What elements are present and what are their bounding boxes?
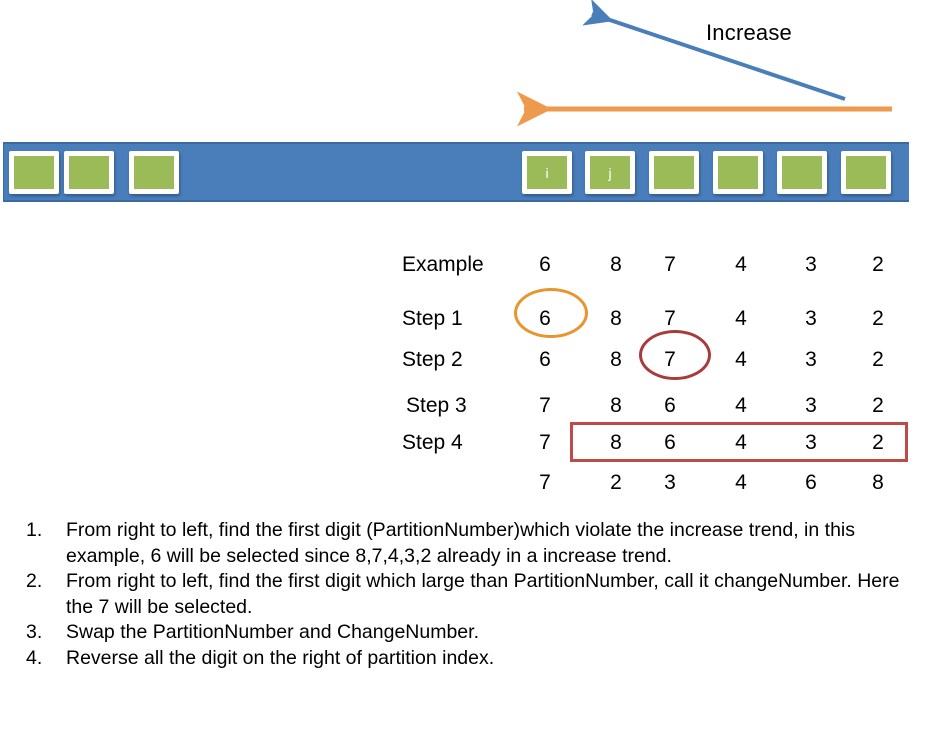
table-cell-3-2: 6 [658,394,682,418]
table-cell-2-3: 4 [729,348,753,372]
array-cell-1[interactable] [64,151,114,194]
table-row-label-1: Step 1 [402,307,463,331]
array-bar: i j [3,142,909,202]
array-cell-label-0 [14,156,54,189]
table-cell-4-0: 7 [533,431,557,455]
table-row-label-0: Example [402,253,484,277]
table-cell-0-1: 8 [604,253,628,277]
array-cell-i[interactable]: i [522,151,572,194]
array-cell-0[interactable] [9,151,59,194]
array-cell-label-7 [782,156,822,189]
table-cell-1-5: 2 [866,307,890,331]
table-cell-2-0: 6 [533,348,557,372]
array-cell-label-8 [846,156,886,189]
table-cell-1-4: 3 [799,307,823,331]
instruction-item-1: From right to left, find the first digit… [66,518,925,569]
table-cell-2-5: 2 [866,348,890,372]
table-cell-0-0: 6 [533,253,557,277]
table-cell-4-3: 4 [729,431,753,455]
table-cell-1-2: 7 [658,307,682,331]
table-cell-0-2: 7 [658,253,682,277]
array-cell-label-1 [69,156,109,189]
array-cell-6[interactable] [713,151,763,194]
table-cell-4-2: 6 [658,431,682,455]
array-cell-5[interactable] [649,151,699,194]
table-cell-3-1: 8 [604,394,628,418]
table-cell-5-1: 2 [604,471,628,495]
array-cell-8[interactable] [841,151,891,194]
instruction-item-3: Swap the PartitionNumber and ChangeNumbe… [66,620,925,646]
table-cell-0-3: 4 [729,253,753,277]
array-cell-2[interactable] [129,151,179,194]
table-cell-4-5: 2 [866,431,890,455]
array-cell-label-2 [134,156,174,189]
slide-canvas: Increase i j Example 6 8 7 4 3 2 Step 1 … [0,0,951,730]
table-cell-2-1: 8 [604,348,628,372]
table-cell-1-3: 4 [729,307,753,331]
table-cell-3-3: 4 [729,394,753,418]
table-cell-3-0: 7 [533,394,557,418]
table-row-label-4: Step 4 [402,431,463,455]
table-cell-2-4: 3 [799,348,823,372]
table-cell-0-4: 3 [799,253,823,277]
table-cell-5-4: 6 [799,471,823,495]
array-cell-j[interactable]: j [585,151,635,194]
table-cell-4-1: 8 [604,431,628,455]
array-cell-label-5 [654,156,694,189]
table-cell-3-5: 2 [866,394,890,418]
table-cell-4-4: 3 [799,431,823,455]
table-cell-5-5: 8 [866,471,890,495]
table-cell-1-1: 8 [604,307,628,331]
table-row-label-2: Step 2 [402,348,463,372]
instructions-list: From right to left, find the first digit… [20,518,925,671]
table-cell-1-0: 6 [533,307,557,331]
array-cell-label-6 [718,156,758,189]
array-cell-label-j: j [590,156,630,189]
table-cell-0-5: 2 [866,253,890,277]
instruction-item-4: Reverse all the digit on the right of pa… [66,646,925,672]
table-row-label-3: Step 3 [406,394,467,418]
table-cell-5-2: 3 [658,471,682,495]
instruction-item-2: From right to left, find the first digit… [66,569,925,620]
table-cell-5-0: 7 [533,471,557,495]
array-cell-label-i: i [527,156,567,189]
increase-label: Increase [706,20,792,46]
array-cell-7[interactable] [777,151,827,194]
table-cell-2-2: 7 [658,348,682,372]
table-cell-3-4: 3 [799,394,823,418]
table-cell-5-3: 4 [729,471,753,495]
